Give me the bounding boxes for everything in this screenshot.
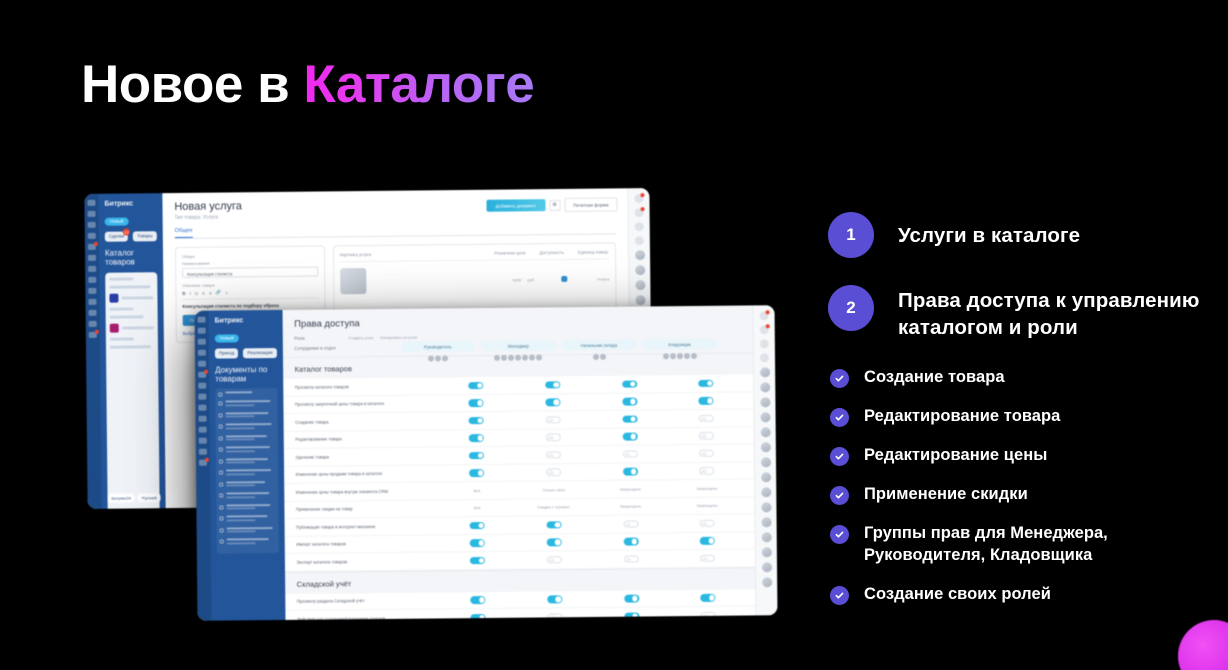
perm-label: Просмотр закупочной цены товара в катало…	[295, 401, 441, 407]
messages-icon[interactable]	[635, 208, 644, 217]
toggle[interactable]	[700, 594, 715, 602]
numbered-item-label: Услуги в каталоге	[898, 212, 1080, 249]
window-access-rights: Битрикс Новый Приход Реализация Документ…	[195, 305, 778, 621]
toggle[interactable]	[469, 382, 484, 390]
numbered-item-label: Права доступа к управлению каталогом и р…	[898, 285, 1228, 341]
toggle[interactable]	[545, 381, 560, 389]
list-item[interactable]	[219, 446, 275, 454]
check-item-label: Применение скидки	[864, 484, 1028, 506]
toggle[interactable]	[699, 397, 714, 405]
nav-tabs: Сделки 12 Товары	[105, 231, 157, 242]
perm-label: Просмотр каталога товаров	[295, 383, 441, 389]
list-item[interactable]	[218, 412, 274, 420]
search-icon[interactable]	[760, 353, 769, 362]
perm-label: Действия над созданием/удалением складов	[297, 615, 443, 620]
brand-pill[interactable]: Новый	[105, 217, 129, 225]
underline-icon[interactable]: U	[195, 290, 198, 295]
toggle[interactable]	[547, 556, 562, 564]
availability-checkbox[interactable]	[561, 276, 567, 282]
rail-icon[interactable]	[199, 416, 207, 422]
link-icon[interactable]: 🔗	[216, 290, 222, 296]
name-field[interactable]: Консультация стилиста	[182, 267, 318, 278]
rail-icon[interactable]	[199, 438, 207, 444]
checkbox-icon[interactable]	[219, 494, 223, 498]
checkbox-icon[interactable]	[220, 528, 224, 532]
avatar[interactable]	[761, 472, 771, 482]
rail-icon[interactable]	[87, 200, 95, 206]
avatar-group	[562, 354, 637, 361]
toggle[interactable]	[624, 612, 639, 620]
col-availability: Доступность	[539, 250, 564, 255]
desc-field-label: Описание товара	[182, 282, 318, 288]
title-accent: Каталоге	[303, 55, 534, 114]
rail-icon-badge[interactable]	[199, 460, 207, 466]
numbered-item-1: 1 Услуги в каталоге	[828, 212, 1228, 258]
toggle[interactable]	[545, 398, 560, 406]
rail-icon[interactable]	[198, 328, 206, 334]
perm-label: Импорт каталога товаров	[296, 541, 442, 547]
nav-tabs: Приход Реализация	[215, 348, 277, 359]
toggle[interactable]	[699, 432, 714, 440]
search-icon[interactable]	[635, 236, 644, 245]
toggle[interactable]	[623, 520, 638, 528]
nav-tab-income[interactable]: Приход	[215, 348, 239, 358]
list-item[interactable]	[219, 515, 275, 523]
product-name-line	[122, 326, 154, 329]
rail-icon[interactable]	[88, 233, 96, 239]
pane-header: Новая услуга Тип товара: Услуга Общее	[162, 188, 628, 239]
list-item: Создание своих ролей	[830, 584, 1228, 606]
role-column-header[interactable]: Кладовщик	[642, 339, 717, 350]
product-name-line	[121, 296, 153, 299]
checkbox-icon[interactable]	[218, 402, 222, 406]
list-line	[110, 307, 134, 310]
toggle[interactable]	[469, 469, 484, 477]
list-item[interactable]	[220, 538, 276, 546]
nav-tab-label: Сделки	[109, 234, 124, 239]
check-item-label: Группы прав для Менеджера, Руководителя,…	[864, 523, 1228, 567]
perm-value[interactable]: Все	[474, 488, 481, 493]
mockup-group: Битрикс Новый Сделки 12 Товары Каталог т…	[70, 180, 770, 640]
list-icon[interactable]: ≡	[209, 290, 212, 295]
desc-text[interactable]: Консультация стилиста по подбору образа	[182, 303, 318, 309]
list-item[interactable]	[219, 504, 275, 512]
gear-icon[interactable]: ⚙	[549, 199, 560, 210]
role-column-manager1: Руководитель	[400, 341, 475, 362]
numbered-item-2: 2 Права доступа к управлению каталогом и…	[828, 285, 1228, 341]
toggle[interactable]	[623, 555, 638, 563]
col-price: Розничная цена	[494, 250, 525, 255]
list-item: Применение скидки	[830, 484, 1228, 506]
list-item: Редактирование товара	[830, 406, 1228, 428]
avatar-group	[400, 355, 475, 362]
avatar[interactable]	[761, 517, 771, 527]
check-icon	[830, 447, 849, 466]
corner-accent-dot	[1178, 620, 1228, 670]
nav-heading: Документы по товарам	[215, 365, 277, 384]
list-line	[110, 345, 151, 348]
rail-icon[interactable]	[198, 339, 206, 345]
checkbox-icon[interactable]	[219, 413, 223, 417]
italic-icon[interactable]: I	[189, 290, 190, 295]
title-plain: Новое в	[81, 55, 303, 114]
toggle[interactable]	[699, 467, 714, 475]
perm-label: Изменение цены продажи товара в каталоге	[296, 471, 442, 477]
right-rail	[752, 305, 777, 615]
list-line	[110, 315, 144, 318]
rail-icon[interactable]	[88, 266, 96, 272]
rail-icon[interactable]	[198, 317, 206, 323]
avatar[interactable]	[635, 295, 645, 305]
toggle[interactable]	[622, 380, 637, 388]
permissions-table-catalog: Просмотр каталога товаров Просмотр закуп…	[283, 374, 755, 571]
create-role-link[interactable]: Создать роль	[348, 335, 373, 340]
cell-unit: Услуга	[597, 276, 609, 281]
nav-tab-products[interactable]: Товары	[133, 231, 157, 241]
check-list: Создание товара Редактирование товара Ре…	[828, 367, 1228, 606]
toggle[interactable]	[471, 596, 486, 604]
role-column-manager2: Менеджер	[481, 340, 556, 361]
toggle[interactable]	[623, 538, 638, 546]
perm-label: Удаление товара	[295, 453, 441, 459]
toggle[interactable]	[546, 468, 561, 476]
perm-label: Экспорт каталога товаров	[296, 558, 442, 564]
footer-button-app[interactable]: Битрикс24	[108, 493, 135, 502]
role-column-warehouse-head: Начальник склада	[562, 340, 637, 361]
check-icon	[830, 586, 849, 605]
checkbox-icon[interactable]	[219, 459, 223, 463]
toggle[interactable]	[700, 537, 715, 545]
checkbox-icon[interactable]	[220, 540, 224, 544]
toggle[interactable]	[547, 521, 562, 529]
product-row[interactable]	[110, 323, 154, 332]
perm-label: Применение скидки на товар	[296, 506, 442, 512]
perm-label: Публикация товара в интернет-магазине	[296, 523, 442, 529]
notifications-icon[interactable]	[634, 194, 643, 203]
avatar[interactable]	[761, 562, 771, 572]
avatar[interactable]	[762, 577, 772, 587]
list-line	[110, 337, 134, 340]
list-item[interactable]	[218, 391, 274, 397]
rail-icon[interactable]	[88, 288, 96, 294]
gear-icon[interactable]	[760, 339, 769, 348]
avatar[interactable]	[760, 382, 770, 392]
role-columns: Руководитель Менеджер Начальник склада	[400, 339, 717, 362]
brand-label: Битрикс	[104, 200, 156, 208]
check-item-label: Редактирование товара	[864, 406, 1060, 428]
header-actions: Добавить документ ⚙ Печатная форма	[486, 197, 617, 212]
rail-icon[interactable]	[88, 277, 96, 283]
check-item-label: Редактирование цены	[864, 445, 1047, 467]
avatar-group	[481, 354, 556, 361]
role-column-storekeeper: Кладовщик	[642, 339, 717, 360]
checkbox-icon[interactable]	[219, 448, 223, 452]
avatar[interactable]	[761, 502, 771, 512]
toggle[interactable]	[700, 554, 715, 562]
avatar[interactable]	[761, 547, 771, 557]
avatar[interactable]	[760, 457, 770, 467]
perm-value[interactable]: Все	[474, 505, 481, 510]
product-row[interactable]	[109, 293, 153, 302]
toggle[interactable]	[469, 452, 484, 460]
toggle[interactable]	[622, 450, 637, 458]
number-badge: 2	[828, 285, 874, 331]
avatar-group	[642, 353, 717, 360]
toggle[interactable]	[470, 522, 485, 530]
checkbox-icon[interactable]	[219, 482, 223, 486]
avatar[interactable]	[760, 412, 770, 422]
list-item[interactable]	[219, 423, 275, 431]
number-badge: 1	[828, 212, 874, 258]
checkbox-icon[interactable]	[219, 436, 223, 440]
print-form-button[interactable]: Печатная форма	[564, 197, 618, 212]
product-thumbnail	[340, 268, 366, 294]
nav-panel: Битрикс Новый Приход Реализация Документ…	[209, 310, 286, 621]
toggle[interactable]	[546, 416, 561, 424]
brand-pill[interactable]: Новый	[215, 334, 239, 342]
toggle[interactable]	[699, 414, 714, 422]
product-list-card	[105, 272, 159, 509]
toggle[interactable]	[469, 399, 484, 407]
check-item-label: Создание своих ролей	[864, 584, 1051, 606]
more-icon[interactable]: »	[225, 290, 228, 295]
nav-tab-deals[interactable]: Сделки 12	[105, 231, 128, 241]
nav-heading: Каталог товаров	[105, 248, 157, 267]
perm-value[interactable]: Запрещено	[696, 486, 717, 491]
col-unit: Единица измер.	[578, 249, 609, 254]
toggle[interactable]	[470, 539, 485, 547]
document-list	[215, 388, 278, 554]
badge-count: 12	[123, 228, 130, 235]
list-item[interactable]	[219, 492, 275, 500]
avatar[interactable]	[634, 250, 644, 260]
list-filter-line	[109, 277, 133, 280]
checkbox-icon[interactable]	[219, 471, 223, 475]
avatar[interactable]	[760, 442, 770, 452]
nav-tab-label: Товары	[137, 233, 153, 238]
toggle[interactable]	[624, 595, 639, 603]
checkbox-icon[interactable]	[220, 517, 224, 521]
avatar[interactable]	[760, 367, 770, 377]
page-title: Новое в Каталоге	[81, 57, 534, 113]
feature-list-column: 1 Услуги в каталоге 2 Права доступа к уп…	[828, 212, 1228, 606]
footer-buttons: Битрикс24 Русский	[108, 493, 161, 503]
avatar[interactable]	[761, 487, 771, 497]
toggle[interactable]	[546, 433, 561, 441]
permissions-table-warehouse: Просмотр раздела Складской учёт Действия…	[285, 589, 756, 620]
notifications-icon[interactable]	[760, 311, 769, 320]
rail-icon[interactable]	[88, 211, 96, 217]
employees-label: Сотрудники и отдел	[294, 345, 335, 350]
rail-icon[interactable]	[199, 427, 207, 433]
slide-canvas: Новое в Каталоге	[0, 0, 1228, 670]
nav-panel: Битрикс Новый Сделки 12 Товары Каталог т…	[98, 193, 165, 509]
check-icon	[830, 525, 849, 544]
copy-role-link[interactable]: Копировать из роли	[380, 335, 417, 340]
list-item: Группы прав для Менеджера, Руководителя,…	[830, 523, 1228, 567]
toggle[interactable]	[622, 398, 637, 406]
perm-label: Редактирование товара	[295, 436, 441, 442]
avatar[interactable]	[635, 280, 645, 290]
rail-icon[interactable]	[88, 222, 96, 228]
check-item-label: Создание товара	[864, 367, 1005, 389]
list-item[interactable]	[219, 469, 275, 477]
rail-icon[interactable]	[198, 405, 206, 411]
list-item[interactable]	[218, 400, 274, 408]
cell-price: 9000	[513, 277, 522, 282]
avatar[interactable]	[760, 397, 770, 407]
bold-icon[interactable]: B	[182, 290, 185, 295]
toggle[interactable]	[622, 433, 637, 441]
checkbox-icon[interactable]	[219, 425, 223, 429]
list-line	[109, 285, 150, 288]
perm-label: Создание товара	[295, 418, 441, 424]
toggle[interactable]	[469, 417, 484, 425]
toggle[interactable]	[547, 538, 562, 546]
rail-icon[interactable]	[198, 394, 206, 400]
check-icon	[830, 486, 849, 505]
cell-currency: руб.	[527, 277, 535, 282]
avatar[interactable]	[635, 265, 645, 275]
avatar[interactable]	[760, 427, 770, 437]
toggle[interactable]	[701, 611, 716, 619]
list-item: Создание товара	[830, 367, 1228, 389]
rail-icon[interactable]	[199, 449, 207, 455]
toggle[interactable]	[470, 557, 485, 565]
footer-button-lang[interactable]: Русский	[138, 493, 161, 502]
rail-icon[interactable]	[88, 299, 96, 305]
toggle[interactable]	[546, 451, 561, 459]
toggle[interactable]	[469, 434, 484, 442]
add-document-button[interactable]: Добавить документ	[486, 199, 545, 212]
rail-icon[interactable]	[198, 361, 206, 367]
nav-tab-sale[interactable]: Реализация	[243, 348, 276, 358]
rail-icon-badge[interactable]	[198, 372, 206, 378]
role-column-header[interactable]: Руководитель	[400, 341, 475, 352]
avatar[interactable]	[761, 532, 771, 542]
rail-icon[interactable]	[198, 350, 206, 356]
list-item: Редактирование цены	[830, 445, 1228, 467]
check-icon	[830, 369, 849, 388]
checkbox-icon[interactable]	[219, 505, 223, 509]
tab-general[interactable]: Общее	[175, 228, 193, 238]
brand-label: Битрикс	[215, 317, 277, 325]
toggle[interactable]	[471, 614, 486, 620]
toggle[interactable]	[622, 415, 637, 423]
rail-icon[interactable]	[198, 383, 206, 389]
roles-label: Роли	[294, 335, 340, 340]
perm-value[interactable]: Запрещено	[620, 504, 641, 509]
table-row[interactable]: 9000 руб. Услуга	[340, 259, 609, 294]
toggle[interactable]	[700, 519, 715, 527]
checkbox-icon[interactable]	[218, 392, 222, 396]
section-label: Общее	[182, 253, 318, 259]
perm-value[interactable]: Запрещено	[697, 503, 718, 508]
check-icon	[830, 408, 849, 427]
table-title: Картинка услуги	[340, 252, 372, 257]
toggle[interactable]	[547, 595, 562, 603]
rail-icon[interactable]	[89, 310, 97, 316]
perm-label: Изменение цены товара внутри элемента CR…	[296, 488, 442, 494]
messages-icon[interactable]	[760, 325, 769, 334]
rail-icon-badge[interactable]	[88, 244, 96, 250]
perm-value[interactable]: Скидка с огранич.	[537, 504, 570, 509]
role-column-header[interactable]: Менеджер	[481, 340, 556, 351]
color-swatch	[109, 293, 118, 302]
list-item[interactable]	[219, 458, 275, 466]
access-rights-pane: Права доступа Роли Создать роль Копирова…	[282, 305, 755, 620]
perm-value[interactable]: Запрещено	[620, 486, 641, 491]
rail-icon[interactable]	[88, 255, 96, 261]
list-item[interactable]	[220, 527, 276, 535]
toggle[interactable]	[547, 613, 562, 620]
role-column-header[interactable]: Начальник склада	[562, 340, 637, 351]
list-item[interactable]	[219, 435, 275, 443]
list-item[interactable]	[219, 481, 275, 489]
perm-value[interactable]: Только свои	[543, 487, 565, 492]
color-icon[interactable]: A	[202, 290, 205, 295]
perm-label: Просмотр раздела Складской учёт	[297, 598, 443, 604]
rail-icon-badge[interactable]	[89, 332, 97, 338]
editor-toolbar: B I U A ≡ 🔗 »	[182, 289, 318, 300]
name-field-label: Наименование	[182, 260, 318, 266]
toggle[interactable]	[623, 468, 638, 476]
toggle[interactable]	[698, 379, 713, 387]
gear-icon[interactable]	[635, 222, 644, 231]
toggle[interactable]	[699, 449, 714, 457]
color-swatch	[110, 323, 119, 332]
rail-icon[interactable]	[89, 321, 97, 327]
